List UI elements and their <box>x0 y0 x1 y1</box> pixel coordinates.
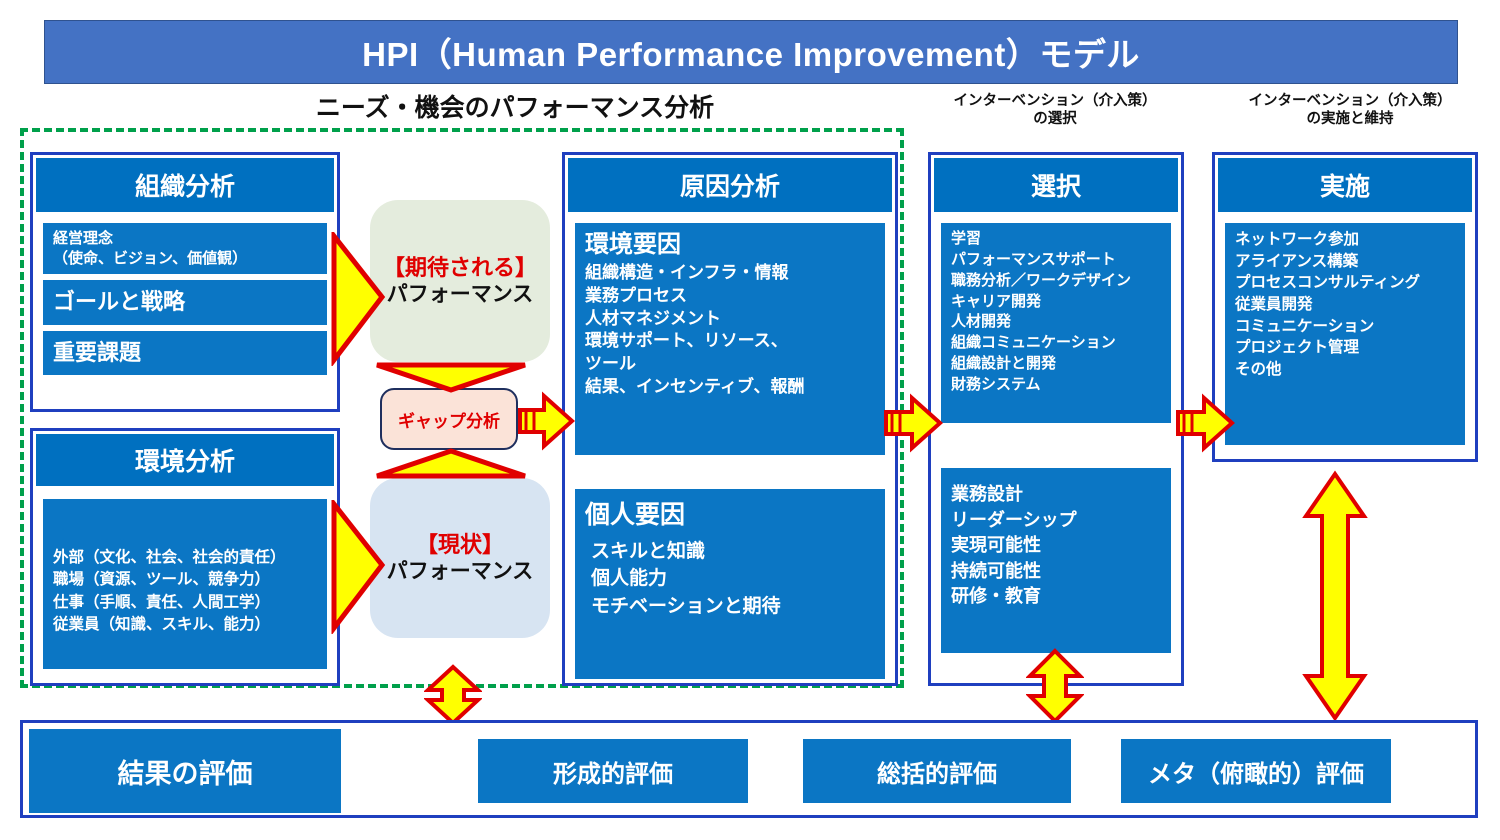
list-item: プロジェクト管理 <box>1235 337 1455 359</box>
list-item: プロセスコンサルティング <box>1235 272 1455 294</box>
list-item: 職場（資源、ツール、競争力） <box>53 569 317 591</box>
list-item: 組織設計と開発 <box>951 354 1161 375</box>
org-item-philosophy: 経営理念 （使命、ビジョン、価値観） <box>43 223 327 274</box>
panel-environment-body: 外部（文化、社会、社会的責任）職場（資源、ツール、競争力）仕事（手順、責任、人間… <box>33 489 337 679</box>
list-item: 従業員開発 <box>1235 294 1455 316</box>
panel-selection-body: 学習パフォーマンスサポート職務分析／ワークデザインキャリア開発人材開発組織コミュ… <box>931 215 1181 677</box>
panel-selection[interactable]: 選択 学習パフォーマンスサポート職務分析／ワークデザインキャリア開発人材開発組織… <box>928 152 1184 686</box>
list-item: ネットワーク参加 <box>1235 229 1455 251</box>
list-item: 職務分析／ワークデザイン <box>951 271 1161 292</box>
evaluation-main-box[interactable]: 結果の評価 <box>29 729 341 813</box>
list-item: モチベーションと期待 <box>585 593 875 621</box>
list-item: 個人能力 <box>585 565 875 593</box>
implementation-item-list: ネットワーク参加アライアンス構築プロセスコンサルティング従業員開発コミュニケーシ… <box>1225 223 1465 445</box>
list-item: キャリア開発 <box>951 292 1161 313</box>
cause-environmental-items: 組織構造・インフラ・情報業務プロセス人材マネジメント環境サポート、リソース、ツー… <box>585 262 875 399</box>
diagram-title-bar: HPI（Human Performance Improvement）モデル <box>44 20 1458 84</box>
phase-caption-implementation: インターベンション（介入策） の実施と維持 <box>1200 92 1500 128</box>
phase-caption-needs: ニーズ・機会のパフォーマンス分析 <box>215 93 815 124</box>
list-item: リーダーシップ <box>951 508 1161 534</box>
environment-item-list: 外部（文化、社会、社会的責任）職場（資源、ツール、競争力）仕事（手順、責任、人間… <box>43 499 327 669</box>
list-item: パフォーマンスサポート <box>951 250 1161 271</box>
expected-performance-bracket: 【期待される】 <box>383 255 537 281</box>
panel-organization-body: 経営理念 （使命、ビジョン、価値観） ゴールと戦略 重要課題 <box>33 215 337 405</box>
panel-cause-analysis[interactable]: 原因分析 環境要因 組織構造・インフラ・情報業務プロセス人材マネジメント環境サポ… <box>562 152 898 686</box>
expected-performance-box: 【期待される】 パフォーマンス <box>370 200 550 362</box>
up-down-arrow-icon-analysis-to-evaluation <box>424 664 482 726</box>
page-title: HPI（Human Performance Improvement）モデル <box>362 28 1140 76</box>
org-item-goals: ゴールと戦略 <box>43 280 327 325</box>
right-arrow-icon-cause-to-selection <box>880 392 944 454</box>
triangle-pointer-icon-expected <box>330 232 386 366</box>
list-item: 人材マネジメント <box>585 308 875 331</box>
panel-implementation[interactable]: 実施 ネットワーク参加アライアンス構築プロセスコンサルティング従業員開発コミュニ… <box>1212 152 1478 462</box>
cause-group-individual-title: 個人要因 <box>585 499 875 532</box>
current-performance-bracket: 【現状】 <box>416 532 504 558</box>
panel-environment-analysis[interactable]: 環境分析 外部（文化、社会、社会的責任）職場（資源、ツール、競争力）仕事（手順、… <box>30 428 340 686</box>
evaluation-formative-box[interactable]: 形成的評価 <box>478 739 748 803</box>
environment-items: 外部（文化、社会、社会的責任）職場（資源、ツール、競争力）仕事（手順、責任、人間… <box>53 547 317 637</box>
selection-group-criteria: 業務設計リーダーシップ実現可能性持続可能性研修・教育 <box>941 468 1171 653</box>
up-down-arrow-icon-implementation-to-evaluation <box>1302 470 1368 722</box>
list-item: 人材開発 <box>951 312 1161 333</box>
right-arrow-icon-selection-to-implementation <box>1172 392 1236 454</box>
cause-group-environmental-title: 環境要因 <box>585 229 875 260</box>
selection-criteria-items: 業務設計リーダーシップ実現可能性持続可能性研修・教育 <box>951 482 1161 610</box>
list-item: 実現可能性 <box>951 533 1161 559</box>
current-performance-label: パフォーマンス <box>387 559 534 584</box>
cause-group-environmental: 環境要因 組織構造・インフラ・情報業務プロセス人材マネジメント環境サポート、リソ… <box>575 223 885 455</box>
list-item: 従業員（知識、スキル、能力） <box>53 614 317 636</box>
panel-cause-header: 原因分析 <box>568 158 892 212</box>
list-item: 業務プロセス <box>585 285 875 308</box>
evaluation-summative-box[interactable]: 総括的評価 <box>803 739 1071 803</box>
implementation-items: ネットワーク参加アライアンス構築プロセスコンサルティング従業員開発コミュニケーシ… <box>1235 229 1455 381</box>
gap-analysis-box[interactable]: ギャップ分析 <box>380 388 518 450</box>
evaluation-meta-box[interactable]: メタ（俯瞰的）評価 <box>1121 739 1391 803</box>
evaluation-strip: 結果の評価 形成的評価 総括的評価 メタ（俯瞰的）評価 <box>20 720 1478 818</box>
list-item: 研修・教育 <box>951 584 1161 610</box>
list-item: 環境サポート、リソース、 <box>585 330 875 353</box>
expected-performance-label: パフォーマンス <box>387 282 534 307</box>
flat-arrow-icon-expected-to-gap <box>373 360 529 394</box>
panel-environment-header: 環境分析 <box>36 434 334 486</box>
list-item: 外部（文化、社会、社会的責任） <box>53 547 317 569</box>
up-down-arrow-icon-selection-to-evaluation <box>1026 648 1084 724</box>
list-item: 組織構造・インフラ・情報 <box>585 262 875 285</box>
list-item: アライアンス構築 <box>1235 251 1455 273</box>
phase-caption-selection: インターベンション（介入策） の選択 <box>905 92 1205 128</box>
panel-organization-analysis[interactable]: 組織分析 経営理念 （使命、ビジョン、価値観） ゴールと戦略 重要課題 <box>30 152 340 412</box>
list-item: 業務設計 <box>951 482 1161 508</box>
list-item: 財務システム <box>951 375 1161 396</box>
panel-implementation-body: ネットワーク参加アライアンス構築プロセスコンサルティング従業員開発コミュニケーシ… <box>1215 215 1475 453</box>
panel-implementation-header: 実施 <box>1218 158 1472 212</box>
panel-cause-body: 環境要因 組織構造・インフラ・情報業務プロセス人材マネジメント環境サポート、リソ… <box>565 215 895 677</box>
selection-group-interventions: 学習パフォーマンスサポート職務分析／ワークデザインキャリア開発人材開発組織コミュ… <box>941 223 1171 423</box>
list-item: 学習 <box>951 229 1161 250</box>
selection-interventions-items: 学習パフォーマンスサポート職務分析／ワークデザインキャリア開発人材開発組織コミュ… <box>951 229 1161 396</box>
list-item: 持続可能性 <box>951 559 1161 585</box>
panel-selection-header: 選択 <box>934 158 1178 212</box>
triangle-pointer-icon-current <box>330 500 386 634</box>
cause-group-individual: 個人要因 スキルと知識個人能力モチベーションと期待 <box>575 489 885 679</box>
panel-organization-header: 組織分析 <box>36 158 334 212</box>
list-item: スキルと知識 <box>585 538 875 566</box>
org-item-key-issues: 重要課題 <box>43 331 327 376</box>
list-item: ツール <box>585 353 875 376</box>
list-item: 結果、インセンティブ、報酬 <box>585 376 875 399</box>
list-item: コミュニケーション <box>1235 316 1455 338</box>
list-item: その他 <box>1235 359 1455 381</box>
list-item: 組織コミュニケーション <box>951 333 1161 354</box>
right-arrow-icon-gap-to-cause <box>514 390 576 452</box>
current-performance-box: 【現状】 パフォーマンス <box>370 478 550 638</box>
diagram-canvas: HPI（Human Performance Improvement）モデル ニー… <box>0 0 1500 840</box>
cause-individual-items: スキルと知識個人能力モチベーションと期待 <box>585 538 875 621</box>
list-item: 仕事（手順、責任、人間工学） <box>53 592 317 614</box>
flat-arrow-icon-current-to-gap <box>373 446 529 480</box>
